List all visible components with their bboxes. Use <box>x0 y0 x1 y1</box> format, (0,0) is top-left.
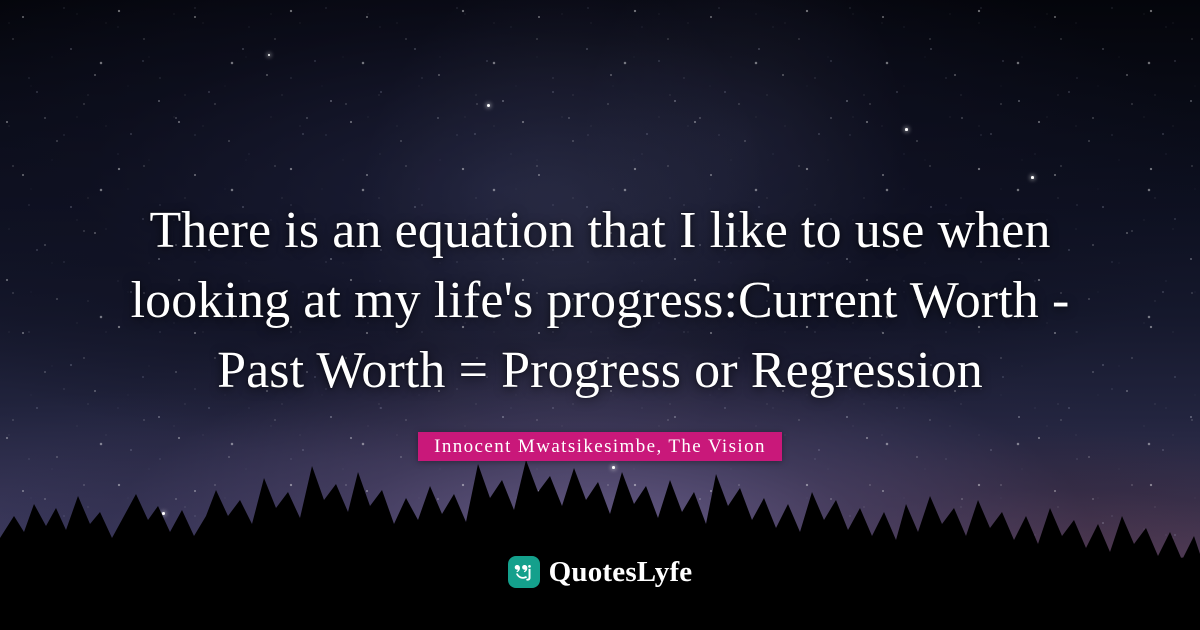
bright-star <box>1031 176 1034 179</box>
brand-wordmark: QuotesLyfe <box>549 557 693 587</box>
quote-text-block: There is an equation that I like to use … <box>0 196 1200 406</box>
bright-star <box>905 128 908 131</box>
quote-line-2: looking at my life's progress:Current Wo… <box>72 266 1128 336</box>
quote-line-3: Past Worth = Progress or Regression <box>72 336 1128 406</box>
quote-card: There is an equation that I like to use … <box>0 0 1200 630</box>
author-attribution: Innocent Mwatsikesimbe, The Vision <box>0 432 1200 461</box>
brand-lockup[interactable]: QuotesLyfe <box>0 556 1200 588</box>
author-badge: Innocent Mwatsikesimbe, The Vision <box>418 432 782 461</box>
bright-star <box>487 104 490 107</box>
quote-line-1: There is an equation that I like to use … <box>72 196 1128 266</box>
quote-smiley-icon <box>508 556 540 588</box>
